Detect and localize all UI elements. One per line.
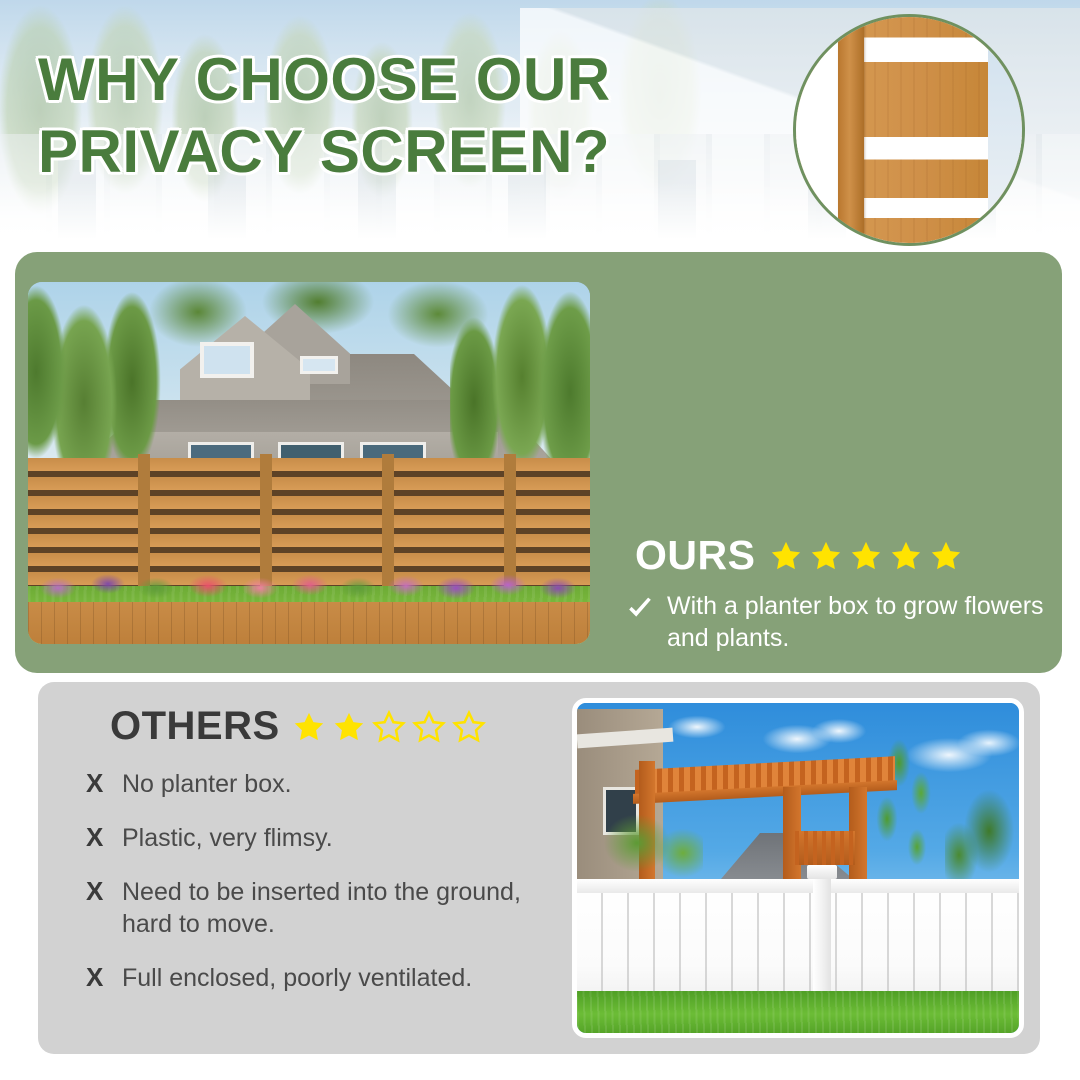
infographic-page: WHY CHOOSE OUR PRIVACY SCREEN? [0, 0, 1080, 1080]
others-drawback-text: Plastic, very flimsy. [122, 822, 333, 854]
ours-star-rating [769, 539, 963, 573]
others-product-photo [572, 698, 1024, 1038]
wood-slat-closeup-icon [793, 14, 1025, 246]
star-filled-icon [332, 710, 366, 744]
others-drawback-text: No planter box. [122, 768, 292, 800]
page-title: WHY CHOOSE OUR PRIVACY SCREEN? [38, 44, 758, 188]
others-drawback-list: XNo planter box.XPlastic, very flimsy.XN… [86, 768, 576, 1016]
others-drawback-item: XNeed to be inserted into the ground, ha… [86, 876, 576, 940]
others-drawback-item: XFull enclosed, poorly ventilated. [86, 962, 576, 994]
ours-panel: OURS With a planter box to grow flowers … [15, 252, 1062, 673]
x-icon: X [86, 768, 108, 798]
header-banner: WHY CHOOSE OUR PRIVACY SCREEN? [0, 0, 1080, 252]
others-photo-pergola-railing [795, 831, 855, 865]
star-filled-icon [292, 710, 326, 744]
ours-header: OURS [635, 532, 963, 579]
x-icon: X [86, 962, 108, 992]
ours-photo-planter-box [28, 602, 590, 644]
others-photo-fence-cap [577, 879, 1019, 893]
others-star-rating [292, 710, 486, 744]
others-photo-fence-post-cap [807, 865, 837, 879]
star-outline-icon [412, 710, 446, 744]
ours-benefit-item: With a planter box to grow flowers and p… [627, 590, 1079, 654]
others-drawback-item: XPlastic, very flimsy. [86, 822, 576, 854]
star-filled-icon [769, 539, 803, 573]
others-panel: OTHERS XNo planter box.XPlastic, very fl… [38, 682, 1040, 1054]
ours-photo-fence-posts [28, 454, 590, 586]
x-icon: X [86, 822, 108, 852]
ours-photo-window-dormer [200, 342, 254, 378]
star-outline-icon [452, 710, 486, 744]
x-icon: X [86, 876, 108, 906]
ours-benefit-text: With a planter box to grow flowers and p… [667, 590, 1079, 654]
star-filled-icon [849, 539, 883, 573]
others-drawback-item: XNo planter box. [86, 768, 576, 800]
others-photo-bush [593, 791, 703, 883]
ours-photo-window-small [300, 356, 338, 374]
others-title: OTHERS [110, 704, 280, 749]
ours-title: OURS [635, 532, 755, 579]
others-drawback-text: Full enclosed, poorly ventilated. [122, 962, 472, 994]
badge-fence-post [838, 17, 864, 243]
star-filled-icon [809, 539, 843, 573]
others-header: OTHERS [110, 704, 486, 749]
star-filled-icon [889, 539, 923, 573]
others-photo-grass [577, 991, 1019, 1033]
ours-product-photo [28, 282, 590, 644]
star-outline-icon [372, 710, 406, 744]
badge-left-gap [796, 17, 838, 243]
others-photo-vinyl-fence [577, 879, 1019, 1003]
badge-right-sky [988, 17, 1022, 243]
star-filled-icon [929, 539, 963, 573]
others-drawback-text: Need to be inserted into the ground, har… [122, 876, 576, 940]
check-icon [627, 596, 653, 622]
